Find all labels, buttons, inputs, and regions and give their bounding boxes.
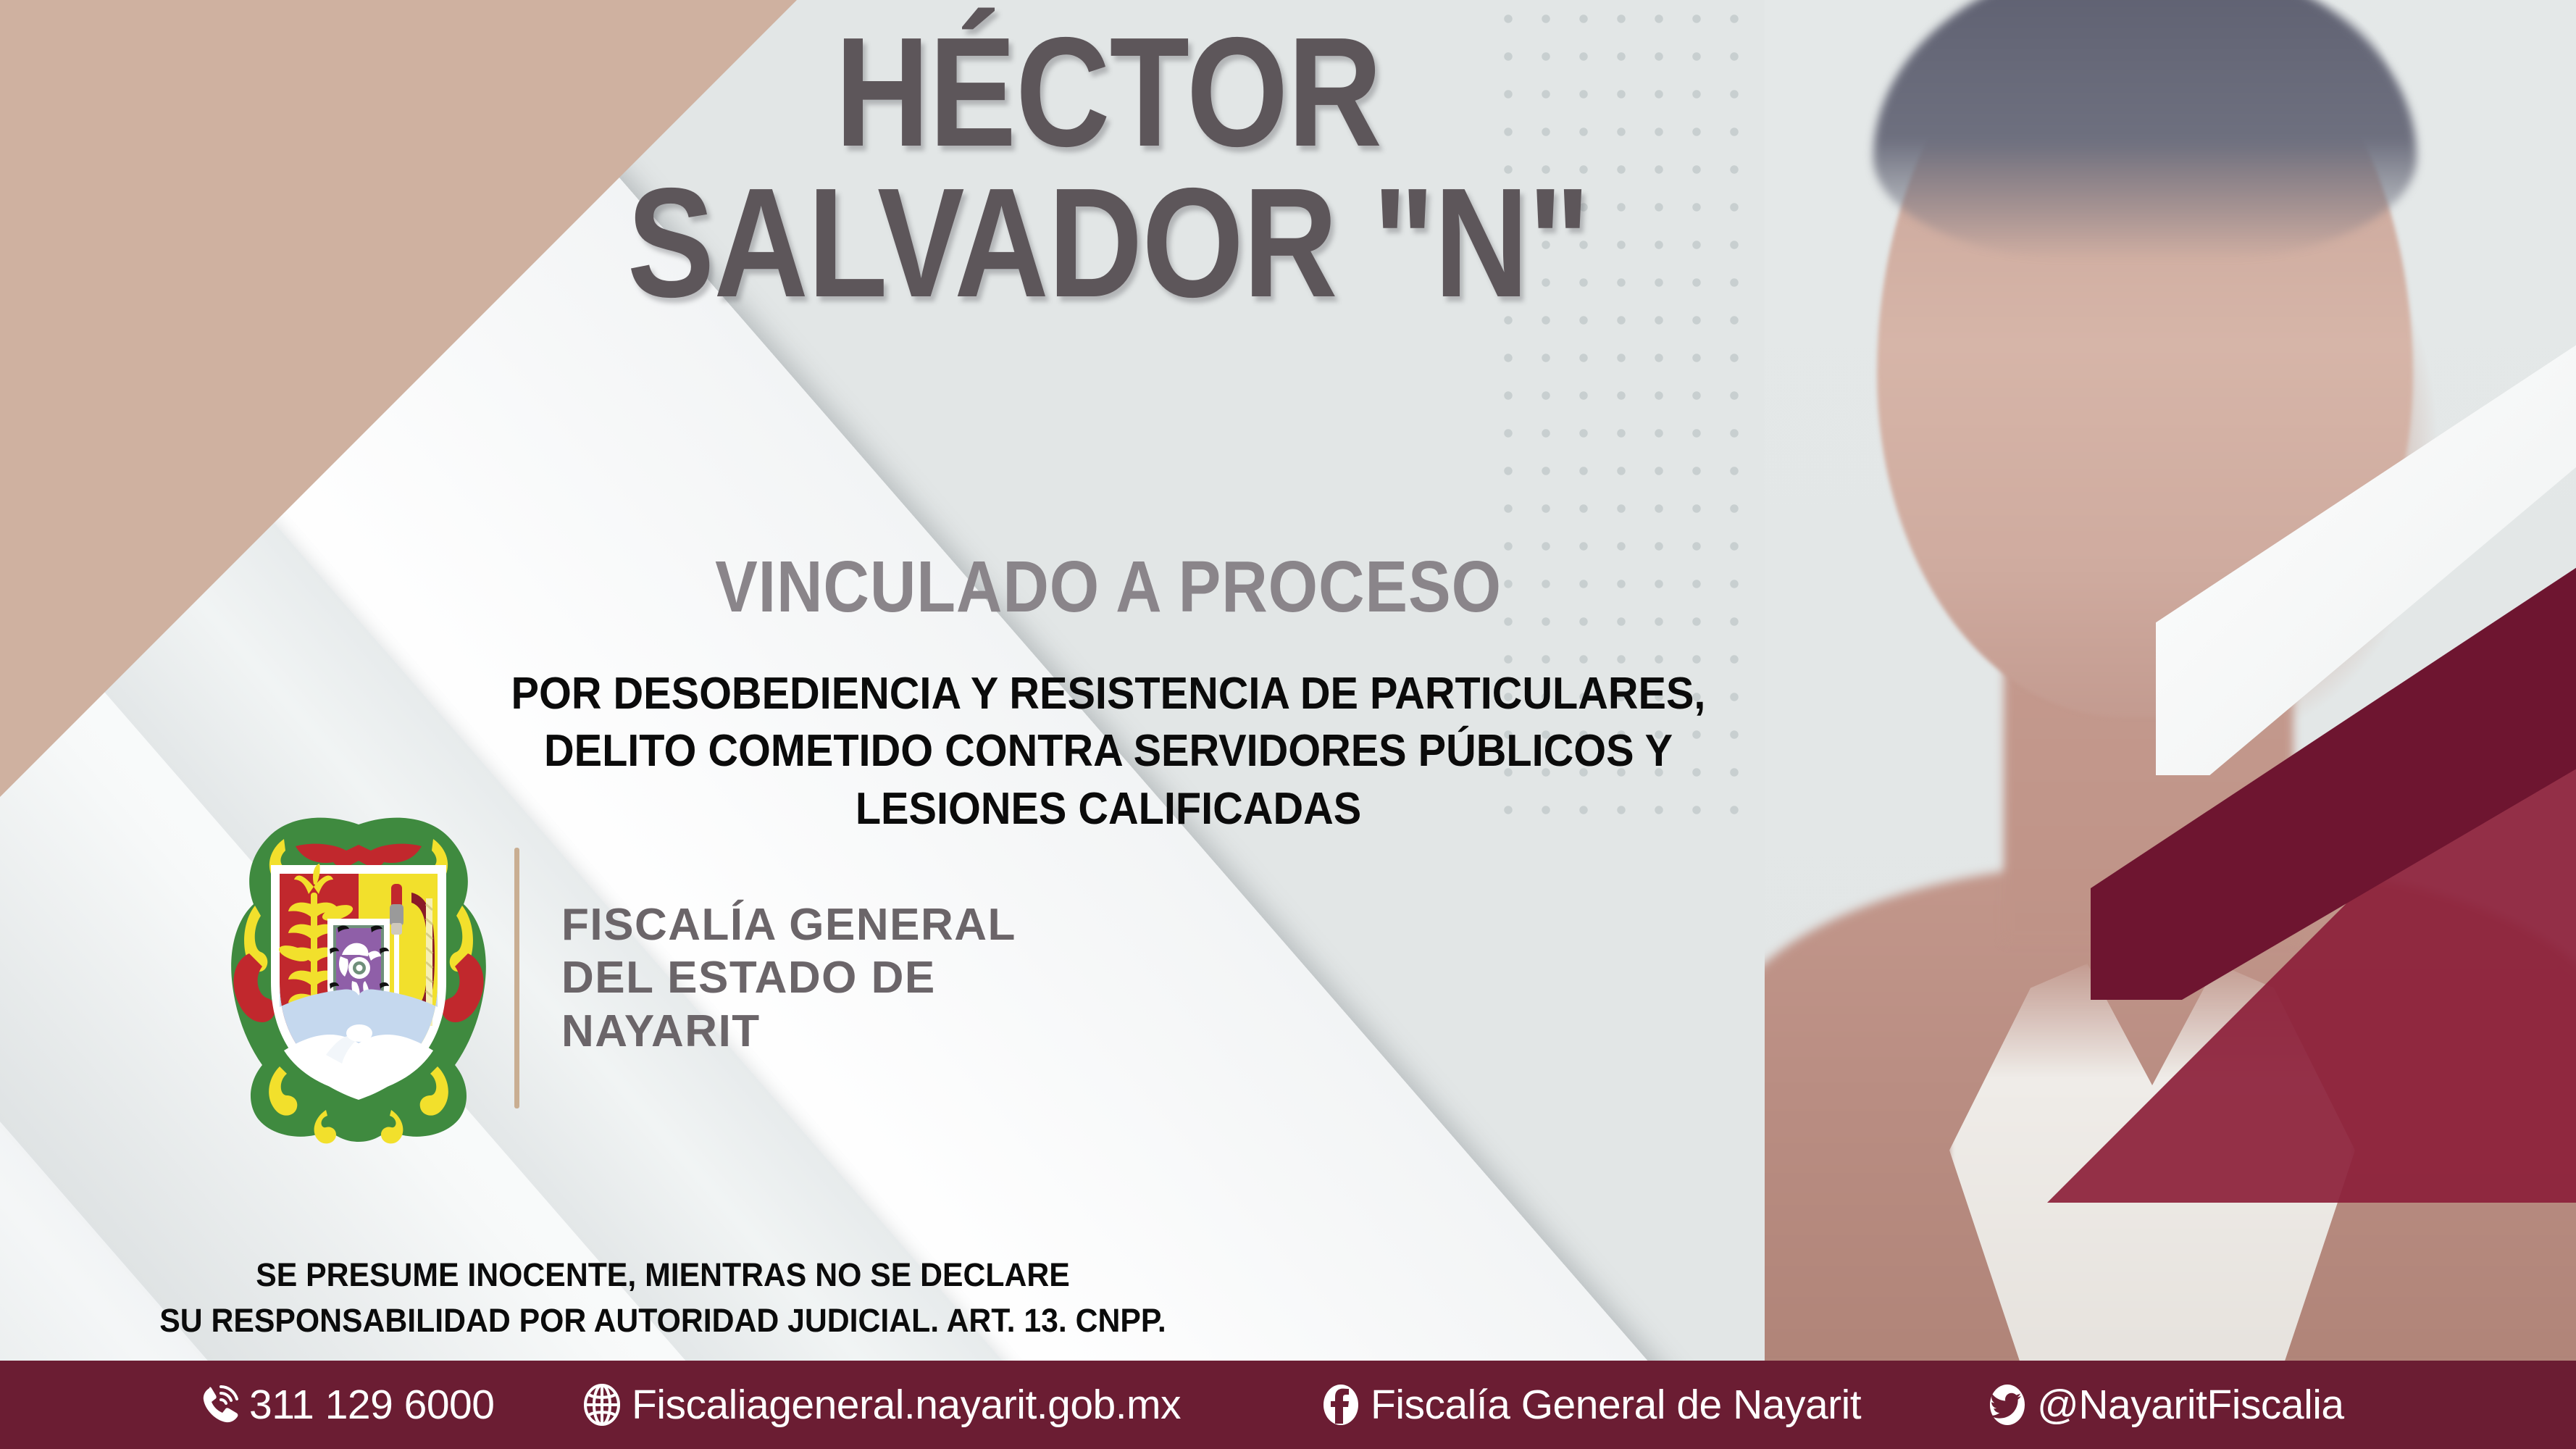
page-title: HÉCTOR SALVADOR "N": [555, 19, 1663, 316]
org-line-2: DEL ESTADO DE: [561, 951, 1016, 1004]
footer-facebook-label: Fiscalía General de Nayarit: [1371, 1381, 1861, 1429]
footer-twitter-label: @NayaritFiscalia: [2037, 1381, 2344, 1429]
globe-icon: [580, 1382, 624, 1427]
twitter-bird-icon: [1985, 1382, 2030, 1427]
contact-footer: 311 129 6000 Fiscaliageneral.nayarit.gob…: [0, 1361, 2576, 1449]
organization-block: FISCALÍA GENERAL DEL ESTADO DE NAYARIT: [217, 811, 1016, 1145]
org-line-1: FISCALÍA GENERAL: [561, 898, 1016, 951]
footer-phone-label: 311 129 6000: [249, 1381, 494, 1429]
phone-call-icon: [197, 1382, 242, 1427]
facebook-icon: [1318, 1382, 1363, 1427]
charge-line: POR DESOBEDIENCIA Y RESISTENCIA DE PARTI…: [455, 665, 1762, 722]
footer-website-label: Fiscaliageneral.nayarit.gob.mx: [632, 1381, 1181, 1429]
organization-name: FISCALÍA GENERAL DEL ESTADO DE NAYARIT: [561, 898, 1016, 1057]
footer-facebook[interactable]: Fiscalía General de Nayarit: [1318, 1381, 1861, 1429]
photo-hair: [1873, 0, 2417, 261]
org-divider: [514, 848, 519, 1108]
nayarit-coat-of-arms-icon: [217, 811, 500, 1145]
disclaimer-line: SU RESPONSABILIDAD POR AUTORIDAD JUDICIA…: [61, 1298, 1266, 1343]
org-line-3: NAYARIT: [561, 1005, 1016, 1058]
legal-disclaimer: SE PRESUME INOCENTE, MIENTRAS NO SE DECL…: [61, 1252, 1266, 1343]
headline-line-1: HÉCTOR: [835, 4, 1381, 179]
footer-twitter[interactable]: @NayaritFiscalia: [1985, 1381, 2344, 1429]
disclaimer-line: SE PRESUME INOCENTE, MIENTRAS NO SE DECL…: [61, 1252, 1266, 1298]
footer-phone[interactable]: 311 129 6000: [197, 1381, 494, 1429]
status-badge: VINCULADO A PROCESO: [528, 551, 1689, 623]
poster-root: HÉCTOR SALVADOR "N" VINCULADO A PROCESO …: [0, 0, 2576, 1449]
headline-line-2: SALVADOR "N": [555, 170, 1663, 316]
charge-line: DELITO COMETIDO CONTRA SERVIDORES PÚBLIC…: [455, 722, 1762, 780]
footer-website[interactable]: Fiscaliageneral.nayarit.gob.mx: [580, 1381, 1181, 1429]
